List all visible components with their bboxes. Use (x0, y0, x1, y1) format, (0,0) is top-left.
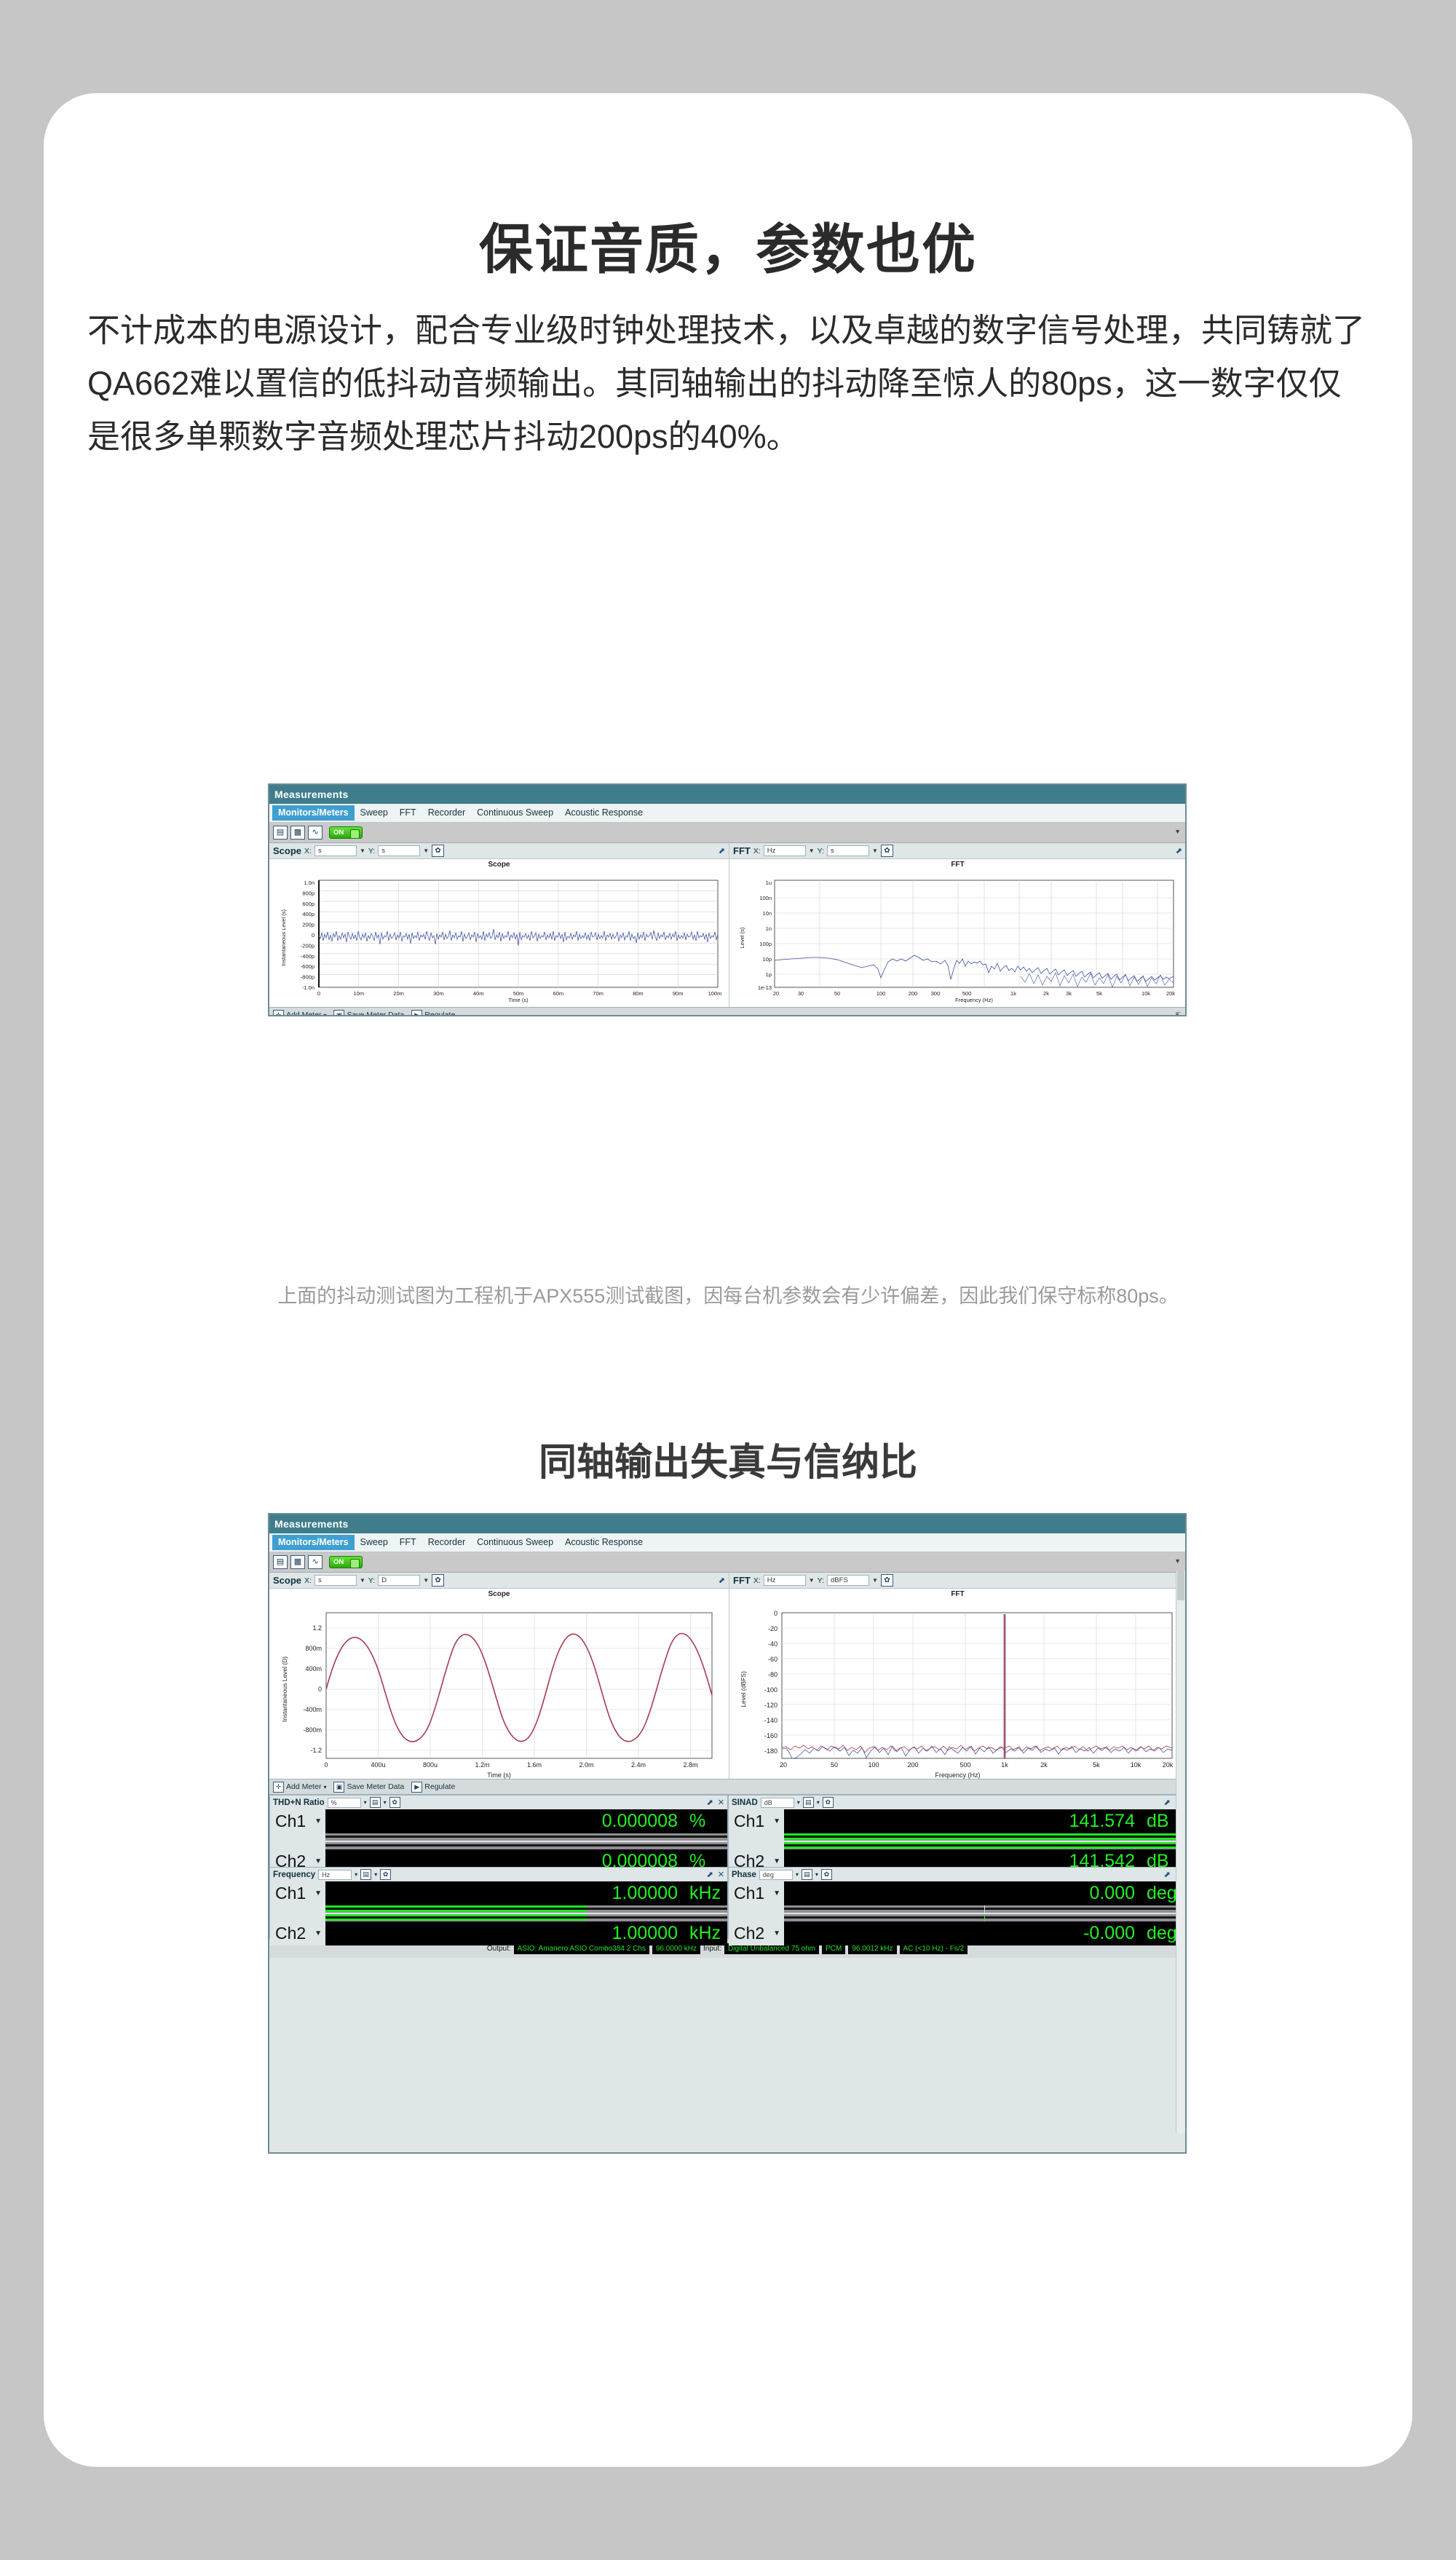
app-toolbar: ▤ ▩ ∿ ON ▼ (269, 1552, 1185, 1573)
chevron-down-icon[interactable]: ▾ (384, 1799, 387, 1806)
svg-text:30m: 30m (433, 990, 444, 997)
layout-split-icon[interactable]: ▤ (273, 826, 288, 839)
channel-selector-ch1[interactable]: Ch1▼ (270, 1809, 325, 1833)
plus-icon: ✛ (273, 1010, 284, 1017)
popout-icon[interactable]: ⬈ (719, 1576, 725, 1585)
svg-text:80m: 80m (633, 990, 644, 997)
meter-unit-field[interactable]: dB (761, 1798, 794, 1808)
svg-text:100m: 100m (708, 990, 722, 997)
svg-text:800p: 800p (302, 890, 314, 896)
chevron-down-icon[interactable]: ▼ (1174, 1557, 1181, 1565)
svg-text:1.6m: 1.6m (527, 1761, 542, 1769)
meters-row-2: Frequency Hz ▾ ▤ ▾ ✿ ⬈✕ Ch1▼ 1.00000kHz … (269, 1867, 1185, 1939)
meter-channel-row: Ch2▼ -0.000deg (729, 1921, 1184, 1945)
svg-text:10k: 10k (1131, 1761, 1142, 1769)
svg-text:-400p: -400p (301, 953, 314, 960)
svg-text:1k: 1k (1001, 1761, 1008, 1769)
chevron-down-icon[interactable]: ▾ (355, 1871, 357, 1878)
svg-text:-200p: -200p (301, 942, 314, 949)
chevron-down-icon[interactable]: ▼ (809, 848, 815, 854)
fft-label: FFT (733, 1575, 751, 1586)
input-label: Input: (703, 1945, 721, 1953)
svg-text:20m: 20m (393, 990, 404, 997)
svg-text:100n: 100n (759, 895, 772, 901)
popout-icon[interactable]: ⬈ (707, 1798, 713, 1807)
chevron-down-icon[interactable]: ▾ (815, 1871, 818, 1878)
gear-icon[interactable]: ✿ (823, 1797, 834, 1808)
close-icon[interactable]: ✕ (718, 1798, 724, 1807)
svg-text:-120: -120 (764, 1702, 778, 1709)
on-toggle[interactable]: ON (329, 826, 363, 839)
figure-caption: 上面的抖动测试图为工程机于APX555测试截图，因每台机参数会有少许偏差，因此我… (131, 1279, 1325, 1313)
fft-x-label: X: (753, 1576, 761, 1585)
meter-header: THD+N Ratio % ▾ ▤ ▾ ✿ ⬈✕ (270, 1795, 727, 1809)
popout-icon[interactable]: ⬈ (1164, 1798, 1171, 1807)
svg-text:1k: 1k (1010, 990, 1016, 997)
chevron-down-icon: ▼ (314, 1889, 322, 1897)
chart-icon[interactable]: ▤ (370, 1797, 381, 1808)
window-title-bar: Measurements (269, 1514, 1185, 1533)
charts-row-thd: Scope X: s ▼ Y: D ▼ ✿ ⬈ Scope 1.2 800m 4… (269, 1573, 1185, 1779)
tab-continuous-sweep[interactable]: Continuous Sweep (471, 805, 559, 821)
scope-x-unit-field[interactable]: s (314, 845, 357, 856)
chevron-down-icon[interactable]: ▾ (374, 1871, 377, 1878)
popout-icon[interactable]: ⬈ (1176, 846, 1182, 856)
gear-icon[interactable]: ✿ (389, 1797, 400, 1808)
waveform-icon[interactable]: ∿ (308, 826, 323, 839)
scrollbar-thumb[interactable] (1177, 1571, 1184, 1600)
meter-channel-row: Ch1▼ 0.000deg (729, 1881, 1184, 1905)
scope-y-label: Y: (368, 1576, 375, 1585)
fft-x-label: X: (753, 847, 761, 856)
fft-y-label: Y: (818, 847, 824, 856)
meter-readout-ch1: 0.000008% (325, 1809, 727, 1833)
fft-y-unit-field[interactable]: dBFS (827, 1575, 869, 1586)
regulate-button[interactable]: ▶Regulate (411, 1010, 455, 1017)
svg-text:2k: 2k (1040, 1761, 1048, 1769)
scope-y-label: Y: (368, 847, 375, 856)
chart-icon[interactable]: ▤ (360, 1869, 371, 1880)
svg-text:-40: -40 (768, 1640, 778, 1648)
scope-pane-thd: Scope X: s ▼ Y: D ▼ ✿ ⬈ Scope 1.2 800m 4… (269, 1573, 729, 1779)
channel-selector-ch1[interactable]: Ch1▼ (729, 1809, 784, 1833)
regulate-button[interactable]: ▶Regulate (411, 1782, 455, 1793)
svg-text:1n: 1n (766, 925, 772, 932)
meter-bar-ch2 (325, 1842, 727, 1849)
scope-label: Scope (273, 1575, 301, 1586)
svg-text:400u: 400u (371, 1761, 385, 1769)
svg-text:1e-13: 1e-13 (758, 984, 772, 991)
svg-text:5k: 5k (1096, 990, 1102, 997)
svg-text:40m: 40m (473, 990, 484, 997)
scope-chart-thd: 1.2 800m 400m 0 -400m -800m -1.2 Instant… (269, 1598, 729, 1769)
svg-text:0: 0 (312, 932, 314, 939)
meter-bar-ch1 (784, 1905, 1184, 1913)
tab-fft[interactable]: FFT (394, 805, 422, 821)
svg-text:-600p: -600p (301, 963, 314, 970)
fft-x-unit-field[interactable]: Hz (764, 845, 806, 856)
fft-x-unit-field[interactable]: Hz (764, 1575, 806, 1586)
svg-text:90m: 90m (673, 990, 684, 997)
scope-chart-title: Scope (269, 1589, 729, 1598)
fft-x-axis-title: Frequency (Hz) (729, 1771, 1186, 1779)
svg-text:800u: 800u (423, 1761, 438, 1769)
svg-text:2.4m: 2.4m (631, 1761, 646, 1769)
chevron-down-icon: ▼ (773, 1857, 780, 1865)
fft-pane-thd: FFT X: Hz ▼ Y: dBFS ▼ ✿ ⬈ FFT 0 -20 -40 (729, 1573, 1186, 1779)
scope-chart-jitter: 1.0n 800p 600p 400p 200p 0 -200p -400p -… (269, 869, 729, 1003)
svg-text:10k: 10k (1142, 990, 1150, 997)
svg-text:100p: 100p (759, 941, 772, 947)
popout-icon[interactable]: ⬈ (1164, 1870, 1171, 1879)
save-icon: ▣ (333, 1782, 344, 1793)
section-heading: 同轴输出失真与信纳比 (44, 1431, 1412, 1486)
meter-bar-ch1 (784, 1833, 1184, 1841)
gear-icon[interactable]: ✿ (432, 1574, 444, 1587)
svg-text:3k: 3k (1066, 990, 1072, 997)
svg-text:100: 100 (877, 990, 886, 997)
meter-sinad: SINAD dB ▾ ▤ ▾ ✿ ⬈✕ Ch1▼ 141.574dB Ch2▼ … (728, 1795, 1185, 1867)
meter-thd-n-ratio: THD+N Ratio % ▾ ▤ ▾ ✿ ⬈✕ Ch1▼ 0.000008% … (269, 1795, 728, 1867)
chevron-down-icon[interactable]: ▼ (423, 1577, 429, 1584)
scope-x-label: X: (304, 847, 312, 856)
charts-row-jitter: Scope X: s ▼ Y: s ▼ ✿ ⬈ Scope 1.0n 800p … (269, 843, 1185, 1007)
svg-text:Level (s): Level (s) (739, 927, 745, 948)
svg-text:600p: 600p (302, 901, 314, 907)
popout-icon[interactable]: ⬈ (707, 1870, 713, 1879)
scope-label: Scope (273, 845, 301, 856)
channel-selector-ch2[interactable]: Ch2▼ (270, 1921, 325, 1945)
meter-unit-field[interactable]: % (328, 1798, 361, 1808)
svg-text:20: 20 (773, 990, 779, 997)
chevron-down-icon[interactable]: ▾ (364, 1799, 367, 1806)
meter-bar-ch1 (325, 1905, 727, 1913)
collapse-icon[interactable]: ⇱ (1175, 1011, 1181, 1017)
svg-text:0: 0 (774, 1610, 778, 1617)
svg-text:1.2m: 1.2m (475, 1761, 489, 1769)
gear-icon[interactable]: ✿ (380, 1869, 391, 1880)
channel-selector-ch1[interactable]: Ch1▼ (729, 1881, 784, 1905)
svg-text:50m: 50m (513, 990, 524, 997)
ap-window-jitter: Measurements Monitors/Meters Sweep FFT R… (268, 783, 1187, 1016)
svg-text:-180: -180 (764, 1747, 778, 1755)
svg-text:Level (dBFS): Level (dBFS) (740, 1671, 747, 1707)
close-icon[interactable]: ✕ (718, 1870, 724, 1879)
play-icon: ▶ (411, 1010, 422, 1017)
meter-frequency: Frequency Hz ▾ ▤ ▾ ✿ ⬈✕ Ch1▼ 1.00000kHz … (269, 1867, 728, 1939)
meters-icon[interactable]: ▩ (290, 1555, 305, 1569)
meter-bar-ch1 (325, 1833, 727, 1841)
save-meter-data-button[interactable]: ▣Save Meter Data (333, 1010, 404, 1017)
scope-x-axis-title: Time (s) (269, 1771, 729, 1779)
tab-fft[interactable]: FFT (394, 1535, 422, 1550)
svg-text:-100: -100 (764, 1686, 778, 1694)
meter-readout-ch2: 1.00000kHz (325, 1921, 727, 1945)
fft-header-thd: FFT X: Hz ▼ Y: dBFS ▼ ✿ ⬈ (729, 1573, 1186, 1589)
scope-y-unit-field[interactable]: s (378, 845, 420, 856)
scope-y-unit-field[interactable]: D (378, 1575, 420, 1586)
output-label: Output: (487, 1945, 511, 1953)
chevron-down-icon: ▼ (314, 1929, 322, 1937)
svg-text:70m: 70m (593, 990, 604, 997)
chart-icon[interactable]: ▤ (802, 1869, 812, 1880)
fft-chart-jitter: 1u 100n 10n 1n 100p 10p 1p 1e-13 Level (… (729, 869, 1186, 1003)
svg-text:1.2: 1.2 (312, 1624, 322, 1632)
svg-text:0: 0 (317, 990, 320, 997)
svg-text:5k: 5k (1093, 1761, 1100, 1769)
svg-text:1.0n: 1.0n (304, 880, 314, 886)
waveform-icon[interactable]: ∿ (308, 1555, 323, 1569)
meter-header: Frequency Hz ▾ ▤ ▾ ✿ ⬈✕ (270, 1868, 727, 1881)
svg-text:200: 200 (909, 990, 918, 997)
chevron-down-icon: ▼ (314, 1817, 322, 1825)
svg-text:2.8m: 2.8m (683, 1761, 697, 1769)
tab-recorder[interactable]: Recorder (422, 805, 471, 821)
chevron-down-icon[interactable]: ▼ (872, 848, 878, 854)
svg-text:2.0m: 2.0m (579, 1761, 593, 1769)
tab-sweep[interactable]: Sweep (355, 805, 394, 821)
chart-icon[interactable]: ▤ (803, 1797, 814, 1808)
svg-text:10m: 10m (354, 990, 365, 997)
app-toolbar: ▤ ▩ ∿ ON ▼ (269, 823, 1185, 843)
scope-pane-jitter: Scope X: s ▼ Y: s ▼ ✿ ⬈ Scope 1.0n 800p … (269, 843, 729, 1007)
chevron-down-icon: ▼ (773, 1929, 780, 1937)
svg-text:Instantaneous Level (D): Instantaneous Level (D) (281, 1656, 288, 1722)
svg-text:500: 500 (960, 1761, 970, 1769)
svg-text:500: 500 (962, 990, 972, 997)
meter-title: SINAD (732, 1798, 758, 1807)
save-icon: ▣ (333, 1010, 344, 1017)
chevron-down-icon: ▼ (773, 1817, 780, 1825)
meter-header: Phase deg ▾ ▤ ▾ ✿ ⬈✕ (729, 1868, 1184, 1881)
svg-text:-400m: -400m (303, 1706, 322, 1713)
vertical-scrollbar[interactable] (1176, 1571, 1185, 2133)
svg-text:10p: 10p (762, 956, 772, 963)
svg-text:20k: 20k (1163, 1761, 1174, 1769)
tab-recorder[interactable]: Recorder (422, 1535, 471, 1550)
on-toggle[interactable]: ON (329, 1556, 363, 1568)
svg-text:60m: 60m (553, 990, 564, 997)
gear-icon[interactable]: ✿ (821, 1869, 832, 1880)
svg-text:1u: 1u (766, 880, 772, 886)
svg-text:1p: 1p (766, 971, 772, 978)
svg-text:200p: 200p (302, 922, 314, 928)
svg-text:-1.2: -1.2 (310, 1747, 322, 1754)
gear-icon[interactable]: ✿ (432, 845, 444, 857)
fft-chart-title: FFT (729, 859, 1186, 869)
fft-y-unit-field[interactable]: s (827, 845, 869, 856)
svg-text:50: 50 (834, 990, 840, 997)
meter-unit-field[interactable]: deg (759, 1870, 793, 1880)
meter-readout-ch1: 1.00000kHz (325, 1881, 727, 1905)
svg-text:Time (s): Time (s) (508, 997, 529, 1003)
svg-text:10n: 10n (762, 910, 772, 917)
popout-icon[interactable]: ⬈ (719, 846, 725, 856)
scope-header-jitter: Scope X: s ▼ Y: s ▼ ✿ ⬈ (269, 843, 729, 859)
scope-header-thd: Scope X: s ▼ Y: D ▼ ✿ ⬈ (269, 1573, 729, 1589)
svg-text:-800p: -800p (301, 974, 314, 981)
meter-bar-ch2 (784, 1914, 1184, 1921)
chevron-down-icon[interactable]: ▼ (423, 848, 429, 854)
tab-acoustic-response[interactable]: Acoustic Response (559, 1535, 649, 1550)
svg-text:400m: 400m (305, 1665, 322, 1672)
tab-bar: Monitors/Meters Sweep FFT Recorder Conti… (269, 804, 1185, 823)
svg-text:800m: 800m (305, 1645, 322, 1652)
meter-title: Phase (732, 1870, 756, 1879)
save-meter-data-button[interactable]: ▣Save Meter Data (333, 1782, 404, 1793)
chevron-down-icon[interactable]: ▼ (872, 1577, 878, 1584)
plus-icon: ✛ (273, 1782, 284, 1793)
body-paragraph: 不计成本的电源设计，配合专业级时钟处理技术，以及卓越的数字信号处理，共同铸就了Q… (87, 304, 1369, 464)
svg-text:50: 50 (831, 1761, 838, 1769)
meter-phase: Phase deg ▾ ▤ ▾ ✿ ⬈✕ Ch1▼ 0.000deg Ch2▼ … (728, 1867, 1185, 1939)
svg-text:300: 300 (931, 990, 941, 997)
svg-text:400p: 400p (302, 911, 314, 917)
fft-label: FFT (733, 845, 751, 856)
meter-bar-ch2 (784, 1842, 1184, 1849)
meter-channel-row: Ch2▼ 1.00000kHz (270, 1921, 727, 1945)
fft-chart-title: FFT (729, 1589, 1186, 1598)
meter-header: SINAD dB ▾ ▤ ▾ ✿ ⬈✕ (729, 1795, 1184, 1809)
add-meter-button[interactable]: ✛Add Meter▾ (273, 1782, 326, 1793)
meter-unit-field[interactable]: Hz (318, 1870, 352, 1880)
chevron-down-icon[interactable]: ▼ (360, 848, 365, 854)
svg-text:200: 200 (907, 1761, 918, 1769)
meters-icon[interactable]: ▩ (290, 826, 305, 839)
layout-split-icon[interactable]: ▤ (273, 1555, 288, 1569)
svg-text:100: 100 (868, 1761, 879, 1769)
tab-monitors-meters[interactable]: Monitors/Meters (272, 805, 355, 821)
svg-text:-800m: -800m (303, 1726, 322, 1734)
meter-toolbar-thd: ✛Add Meter▾ ▣Save Meter Data ▶Regulate ⇱ (269, 1779, 1185, 1795)
meter-channel-row: Ch1▼ 1.00000kHz (270, 1881, 727, 1905)
channel-selector-ch2[interactable]: Ch2▼ (729, 1921, 784, 1945)
meter-readout-ch1: 141.574dB (784, 1809, 1184, 1833)
svg-text:0: 0 (318, 1686, 322, 1693)
meter-title: THD+N Ratio (273, 1798, 325, 1807)
window-title-bar: Measurements (269, 785, 1185, 804)
svg-text:-20: -20 (768, 1625, 778, 1632)
svg-text:-160: -160 (764, 1732, 778, 1739)
fft-chart-thd: 0 -20 -40 -60 -80 -100 -120 -140 -160 -1… (729, 1598, 1186, 1769)
tab-continuous-sweep[interactable]: Continuous Sweep (471, 1535, 559, 1550)
chevron-down-icon[interactable]: ▼ (809, 1577, 815, 1584)
meter-channel-row: Ch1▼ 141.574dB (729, 1809, 1184, 1833)
svg-text:2k: 2k (1043, 990, 1049, 997)
svg-text:20k: 20k (1166, 990, 1175, 997)
svg-text:20: 20 (780, 1761, 787, 1769)
fft-pane-jitter: FFT X: Hz ▼ Y: s ▼ ✿ ⬈ FFT 1u 100n 10n (729, 843, 1186, 1007)
svg-text:-80: -80 (768, 1671, 778, 1678)
meters-row-1: THD+N Ratio % ▾ ▤ ▾ ✿ ⬈✕ Ch1▼ 0.000008% … (269, 1795, 1185, 1867)
scope-x-unit-field[interactable]: s (314, 1575, 357, 1586)
meter-readout-ch1: 0.000deg (784, 1881, 1184, 1905)
svg-text:-1.0n: -1.0n (302, 984, 314, 991)
fft-y-label: Y: (818, 1576, 824, 1585)
page-title: 保证音质，参数也优 (44, 206, 1412, 284)
gear-icon[interactable]: ✿ (881, 845, 893, 857)
channel-selector-ch1[interactable]: Ch1▼ (270, 1881, 325, 1905)
chevron-down-icon[interactable]: ▾ (817, 1799, 820, 1806)
svg-text:-140: -140 (764, 1717, 778, 1724)
chevron-down-icon: ▼ (314, 1857, 322, 1865)
svg-text:Instantaneous Level (s): Instantaneous Level (s) (280, 909, 287, 966)
tab-acoustic-response[interactable]: Acoustic Response (559, 805, 649, 821)
svg-text:-60: -60 (768, 1656, 778, 1663)
add-meter-button[interactable]: ✛Add Meter▾ (273, 1010, 326, 1017)
chevron-down-icon[interactable]: ▾ (797, 1799, 800, 1806)
ap-window-thd: Measurements Monitors/Meters Sweep FFT R… (268, 1513, 1187, 2154)
play-icon: ▶ (411, 1782, 422, 1793)
svg-text:Frequency (Hz): Frequency (Hz) (955, 997, 993, 1003)
meter-channel-row: Ch1▼ 0.000008% (270, 1809, 727, 1833)
svg-text:0: 0 (324, 1761, 328, 1769)
chevron-down-icon[interactable]: ▼ (1174, 828, 1181, 835)
meter-bar-ch2 (325, 1914, 727, 1921)
chevron-down-icon: ▼ (773, 1889, 780, 1897)
chevron-down-icon[interactable]: ▼ (360, 1577, 365, 1584)
fft-header-jitter: FFT X: Hz ▼ Y: s ▼ ✿ ⬈ (729, 843, 1186, 859)
meter-readout-ch2: -0.000deg (784, 1921, 1184, 1945)
content-card: 保证音质，参数也优 不计成本的电源设计，配合专业级时钟处理技术，以及卓越的数字信… (44, 93, 1412, 2467)
meter-toolbar-jitter: ✛Add Meter▾ ▣Save Meter Data ▶Regulate ⇱ (269, 1007, 1185, 1016)
scope-chart-title: Scope (269, 859, 729, 869)
scope-x-label: X: (304, 1576, 312, 1585)
chevron-down-icon[interactable]: ▾ (796, 1871, 799, 1878)
meter-title: Frequency (273, 1870, 315, 1879)
svg-text:30: 30 (798, 990, 804, 997)
tab-monitors-meters[interactable]: Monitors/Meters (272, 1535, 355, 1550)
tab-bar: Monitors/Meters Sweep FFT Recorder Conti… (269, 1533, 1185, 1552)
gear-icon[interactable]: ✿ (881, 1574, 893, 1587)
tab-sweep[interactable]: Sweep (355, 1535, 394, 1550)
